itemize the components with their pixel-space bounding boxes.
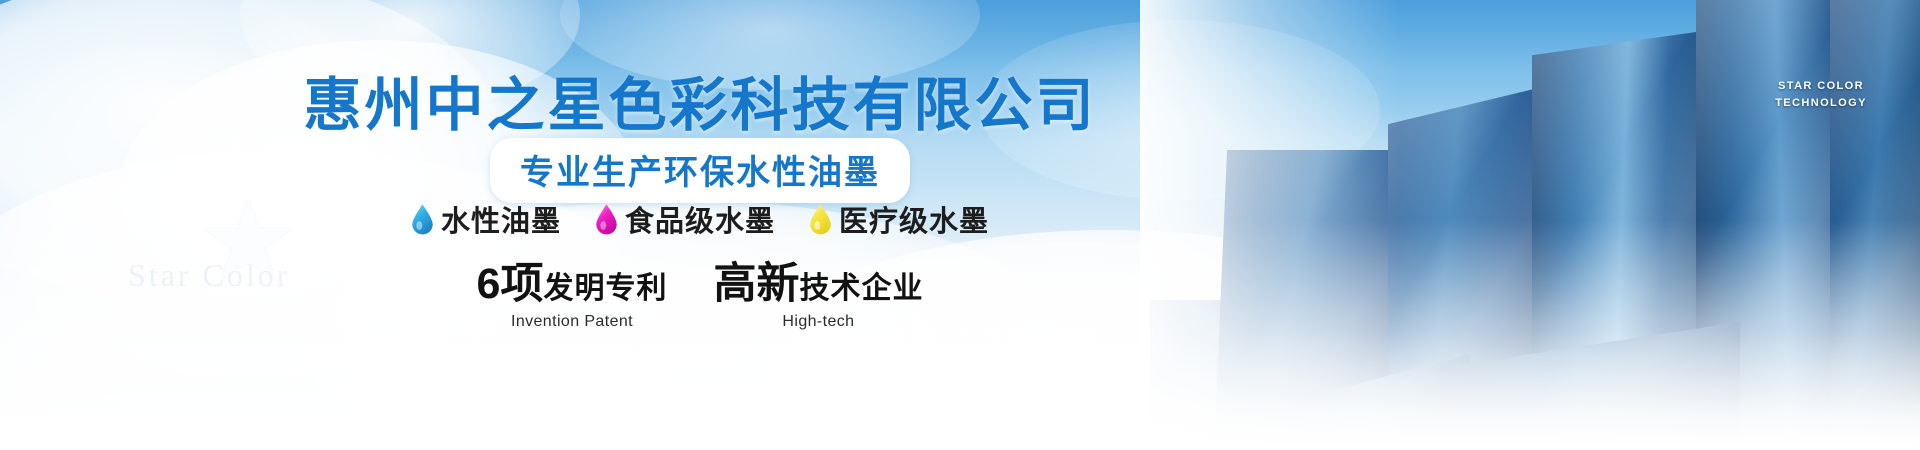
subtitle-badge: 专业生产环保水性油墨 [490,138,910,203]
company-promo-banner: STAR COLOR TECHNOLOGY ★ Star Color 惠州中之星… [0,0,1920,450]
feature-item-medical-grade-ink: 医疗级水墨 [809,198,989,240]
banner-content: 惠州中之星色彩科技有限公司 专业生产环保水性油墨 [0,0,1400,450]
building-sign-line-2: TECHNOLOGY [1760,95,1882,112]
product-feature-list: 水性油墨 [0,198,1400,240]
credentials-list: 6项发明专利 Invention Patent 高新技术企业 High-tech [0,262,1400,331]
credential-detail: 技术企业 [799,272,923,305]
credential-emphasis: 6项 [477,260,544,308]
water-drop-icon [809,204,832,235]
credential-english-text: Invention Patent [477,313,668,331]
credential-chinese-text: 6项发明专利 [477,262,668,311]
feature-label: 医疗级水墨 [839,198,989,240]
credential-emphasis: 高新 [713,260,799,308]
water-drop-icon [411,204,434,235]
water-drop-icon [595,204,618,235]
building-signage: STAR COLOR TECHNOLOGY [1760,78,1882,112]
feature-label: 食品级水墨 [625,198,775,240]
credential-item-invention-patent: 6项发明专利 Invention Patent [477,262,668,331]
subtitle-container: 专业生产环保水性油墨 [0,138,1400,203]
credential-chinese-text: 高新技术企业 [713,262,923,311]
company-name-headline: 惠州中之星色彩科技有限公司 [0,58,1400,142]
building-sign-line-1: STAR COLOR [1760,78,1882,95]
feature-label: 水性油墨 [441,198,561,240]
credential-detail: 发明专利 [543,272,667,305]
credential-english-text: High-tech [713,313,923,331]
credential-item-high-tech: 高新技术企业 High-tech [713,262,923,331]
feature-item-food-grade-ink: 食品级水墨 [595,198,775,240]
feature-item-water-based-ink: 水性油墨 [411,198,561,240]
